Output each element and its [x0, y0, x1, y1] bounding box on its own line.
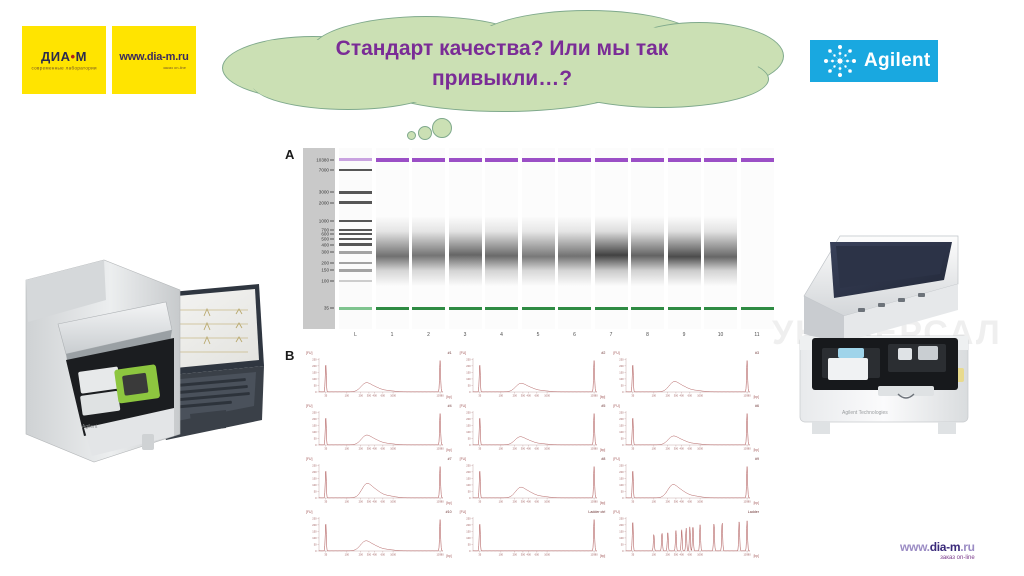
- gel-lane-label: 11: [741, 332, 774, 338]
- thought-bubble-large: [432, 118, 452, 138]
- svg-text:300: 300: [674, 553, 679, 557]
- gel-band: [339, 220, 372, 223]
- gel-smear: [376, 216, 409, 286]
- gel-tick-label: 300: [321, 250, 329, 255]
- svg-text:0: 0: [622, 443, 624, 447]
- electropherogram-x-unit: [bp]: [600, 448, 605, 452]
- gel-lane: [485, 148, 518, 329]
- svg-text:100: 100: [466, 483, 471, 487]
- svg-text:400: 400: [373, 500, 378, 504]
- svg-text:50: 50: [314, 542, 317, 546]
- svg-text:1000: 1000: [390, 553, 396, 557]
- svg-text:400: 400: [526, 394, 531, 398]
- electropherogram-x-unit: [bp]: [446, 395, 451, 399]
- svg-text:0: 0: [622, 549, 624, 553]
- electropherogram-x-unit: [bp]: [600, 501, 605, 505]
- svg-text:600: 600: [688, 394, 693, 398]
- electropherogram-grid: #1[FU][bp]050100150200250351002003004006…: [305, 352, 760, 562]
- svg-text:400: 400: [526, 447, 531, 451]
- svg-text:10380: 10380: [436, 447, 444, 451]
- svg-text:200: 200: [359, 447, 364, 451]
- svg-text:35: 35: [632, 447, 635, 451]
- svg-text:100: 100: [498, 394, 503, 398]
- svg-text:250: 250: [466, 410, 471, 414]
- gel-lower-marker: [449, 307, 482, 310]
- svg-text:100: 100: [652, 553, 657, 557]
- electropherogram-canvas: 0501001502002503510020030040060010001038…: [612, 408, 754, 454]
- gel-lane-label: 5: [522, 332, 555, 338]
- slide-title: Стандарт качества? Или мы так привыкли…?: [262, 34, 742, 95]
- agilent-logo: Agilent: [810, 40, 938, 82]
- gel-lane-label: 2: [412, 332, 445, 338]
- svg-text:200: 200: [466, 417, 471, 421]
- agilent-starburst-icon: [816, 41, 864, 81]
- svg-text:0: 0: [315, 443, 317, 447]
- svg-text:100: 100: [345, 447, 350, 451]
- gel-smear: [631, 216, 664, 286]
- svg-text:50: 50: [467, 436, 470, 440]
- gel-upper-marker: [595, 158, 628, 161]
- svg-text:150: 150: [312, 423, 317, 427]
- gel-band: [339, 269, 372, 272]
- electropherogram-trace: [626, 414, 750, 445]
- gel-tick-label: 3000: [319, 190, 329, 195]
- gel-lower-marker: [595, 307, 628, 310]
- dia-m-site-logo: www.dia-m.ru заказ on-line: [112, 26, 196, 94]
- gel-tick-dash: [330, 202, 334, 203]
- svg-text:100: 100: [466, 430, 471, 434]
- svg-text:150: 150: [466, 423, 471, 427]
- gel-upper-marker: [485, 158, 518, 161]
- electropherogram-plot: #1[FU][bp]050100150200250351002003004006…: [305, 352, 453, 403]
- svg-text:600: 600: [381, 553, 386, 557]
- svg-text:35: 35: [324, 447, 327, 451]
- svg-text:100: 100: [620, 536, 625, 540]
- svg-text:300: 300: [674, 394, 679, 398]
- electropherogram-x-unit: [bp]: [754, 554, 759, 558]
- svg-text:0: 0: [469, 496, 471, 500]
- electropherogram-plot: #10[FU][bp]05010015020025035100200300400…: [305, 511, 453, 562]
- svg-text:200: 200: [359, 394, 364, 398]
- svg-text:1000: 1000: [544, 394, 550, 398]
- svg-text:35: 35: [478, 553, 481, 557]
- svg-text:100: 100: [312, 430, 317, 434]
- gel-upper-marker: [339, 158, 372, 161]
- gel-lane-label: L: [339, 332, 372, 338]
- svg-text:200: 200: [312, 523, 317, 527]
- electropherogram-trace: [626, 361, 750, 392]
- svg-text:150: 150: [620, 370, 625, 374]
- svg-text:200: 200: [620, 470, 625, 474]
- electropherogram-canvas: 0501001502002503510020030040060010001038…: [305, 461, 447, 507]
- electropherogram-title: #2: [601, 351, 605, 355]
- svg-text:250: 250: [466, 516, 471, 520]
- electropherogram-title: #1: [448, 351, 452, 355]
- svg-text:600: 600: [534, 394, 539, 398]
- svg-text:35: 35: [324, 500, 327, 504]
- footer-tagline: заказ on-line: [900, 555, 975, 561]
- electropherogram-trace: [319, 414, 443, 445]
- electropherogram-x-unit: [bp]: [446, 501, 451, 505]
- svg-text:200: 200: [312, 364, 317, 368]
- svg-text:300: 300: [367, 553, 372, 557]
- svg-text:100: 100: [498, 447, 503, 451]
- svg-text:150: 150: [620, 529, 625, 533]
- thought-bubble-medium: [418, 126, 432, 140]
- gel-image-panel-a: 1038070003000200010007006005004003002001…: [303, 148, 756, 344]
- svg-text:35: 35: [478, 394, 481, 398]
- electropherogram-trace: [473, 414, 597, 445]
- svg-text:50: 50: [314, 489, 317, 493]
- gel-tick-label: 1000: [319, 218, 329, 223]
- svg-text:10380: 10380: [744, 500, 752, 504]
- electropherogram-canvas: 0501001502002503510020030040060010001038…: [305, 355, 447, 401]
- svg-text:150: 150: [312, 370, 317, 374]
- svg-text:10380: 10380: [744, 447, 752, 451]
- gel-band: [339, 191, 372, 194]
- svg-text:400: 400: [526, 553, 531, 557]
- svg-text:300: 300: [367, 500, 372, 504]
- site-url-text: www.dia-m.ru: [119, 51, 188, 63]
- svg-text:400: 400: [680, 394, 685, 398]
- electropherogram-title: #4: [448, 404, 452, 408]
- electropherogram-trace: [473, 467, 597, 498]
- gel-smear: [522, 216, 555, 286]
- svg-text:200: 200: [620, 417, 625, 421]
- svg-text:300: 300: [674, 447, 679, 451]
- svg-text:600: 600: [534, 553, 539, 557]
- svg-text:35: 35: [324, 394, 327, 398]
- svg-text:10380: 10380: [436, 553, 444, 557]
- svg-text:200: 200: [312, 417, 317, 421]
- gel-tick-dash: [330, 159, 334, 160]
- gel-tick-label: 10380: [316, 157, 329, 162]
- gel-lower-marker: [522, 307, 555, 310]
- gel-upper-marker: [668, 158, 701, 161]
- svg-text:35: 35: [478, 500, 481, 504]
- svg-text:35: 35: [478, 447, 481, 451]
- panel-b-letter: B: [285, 348, 294, 363]
- electropherogram-title: #6: [755, 404, 759, 408]
- gel-tick-dash: [330, 244, 334, 245]
- svg-text:Agilent Technologies: Agilent Technologies: [842, 410, 888, 416]
- svg-text:1000: 1000: [544, 500, 550, 504]
- svg-text:50: 50: [621, 489, 624, 493]
- svg-text:300: 300: [520, 447, 525, 451]
- gel-lower-marker: [668, 307, 701, 310]
- gel-upper-marker: [412, 158, 445, 161]
- svg-text:250: 250: [312, 357, 317, 361]
- electropherogram-title: #9: [755, 457, 759, 461]
- svg-text:200: 200: [512, 394, 517, 398]
- svg-text:10380: 10380: [436, 500, 444, 504]
- svg-text:50: 50: [467, 489, 470, 493]
- svg-text:1000: 1000: [390, 500, 396, 504]
- svg-text:200: 200: [312, 470, 317, 474]
- gel-upper-marker: [631, 158, 664, 161]
- svg-text:600: 600: [381, 500, 386, 504]
- svg-text:1000: 1000: [390, 447, 396, 451]
- electropherogram-x-unit: [bp]: [754, 395, 759, 399]
- diam-wordmark: ДИА•М: [41, 50, 87, 63]
- gel-lower-marker: [631, 307, 664, 310]
- svg-text:250: 250: [620, 463, 625, 467]
- electropherogram-title: #3: [755, 351, 759, 355]
- electropherogram-canvas: 0501001502002503510020030040060010001038…: [459, 408, 601, 454]
- svg-text:200: 200: [620, 364, 625, 368]
- electropherogram-plot: #8[FU][bp]050100150200250351002003004006…: [459, 458, 607, 509]
- svg-text:250: 250: [620, 516, 625, 520]
- svg-text:1000: 1000: [544, 447, 550, 451]
- gel-upper-marker: [741, 158, 774, 161]
- svg-text:0: 0: [469, 443, 471, 447]
- svg-text:250: 250: [312, 516, 317, 520]
- gel-smear: [595, 216, 628, 286]
- svg-text:250: 250: [620, 410, 625, 414]
- site-tagline: заказ on-line: [163, 65, 186, 70]
- gel-lane: [595, 148, 628, 329]
- gel-lane: [558, 148, 591, 329]
- gel-upper-marker: [376, 158, 409, 161]
- gel-smear: [412, 216, 445, 286]
- gel-tick-label: 100: [321, 278, 329, 283]
- gel-lower-marker: [376, 307, 409, 310]
- svg-text:10380: 10380: [590, 447, 598, 451]
- svg-text:35: 35: [632, 500, 635, 504]
- electropherogram-plot: #2[FU][bp]050100150200250351002003004006…: [459, 352, 607, 403]
- gel-lane-label: 1: [376, 332, 409, 338]
- svg-text:250: 250: [466, 357, 471, 361]
- gel-lane-label: 3: [449, 332, 482, 338]
- svg-text:1000: 1000: [390, 394, 396, 398]
- svg-text:600: 600: [688, 553, 693, 557]
- electropherogram-plot: #7[FU][bp]050100150200250351002003004006…: [305, 458, 453, 509]
- svg-text:600: 600: [534, 447, 539, 451]
- agilent-wordmark: Agilent: [864, 50, 931, 72]
- svg-text:100: 100: [652, 394, 657, 398]
- svg-text:600: 600: [381, 447, 386, 451]
- electropherogram-x-unit: [bp]: [754, 501, 759, 505]
- gel-lower-marker: [558, 307, 591, 310]
- svg-text:100: 100: [345, 553, 350, 557]
- title-line-1: Стандарт качества? Или мы так: [262, 34, 742, 64]
- svg-text:100: 100: [620, 483, 625, 487]
- bioanalyzer-instrument-image: Agilent: [14, 238, 264, 470]
- svg-text:0: 0: [315, 496, 317, 500]
- svg-text:400: 400: [526, 500, 531, 504]
- electropherogram-trace: [626, 521, 750, 551]
- gel-upper-marker: [522, 158, 555, 161]
- svg-text:200: 200: [666, 394, 671, 398]
- svg-text:250: 250: [466, 463, 471, 467]
- svg-text:0: 0: [622, 496, 624, 500]
- svg-text:100: 100: [345, 394, 350, 398]
- svg-text:50: 50: [621, 383, 624, 387]
- gel-tick-label: 500: [321, 236, 329, 241]
- svg-text:10380: 10380: [590, 500, 598, 504]
- svg-text:50: 50: [467, 383, 470, 387]
- svg-text:400: 400: [680, 500, 685, 504]
- svg-text:150: 150: [466, 370, 471, 374]
- electropherogram-plot: #6[FU][bp]050100150200250351002003004006…: [612, 405, 760, 456]
- diam-logo: ДИА•М современные лаборатории: [22, 26, 106, 94]
- svg-text:50: 50: [621, 542, 624, 546]
- svg-text:250: 250: [312, 463, 317, 467]
- gel-tick-label: 400: [321, 242, 329, 247]
- svg-text:150: 150: [620, 423, 625, 427]
- svg-text:400: 400: [680, 553, 685, 557]
- gel-lane-label: 7: [595, 332, 628, 338]
- electropherogram-x-unit: [bp]: [446, 448, 451, 452]
- svg-text:35: 35: [632, 553, 635, 557]
- svg-text:150: 150: [312, 476, 317, 480]
- gel-lane: [704, 148, 737, 329]
- footer-url: www.dia-m.ru: [900, 540, 975, 554]
- electropherogram-trace: [319, 361, 443, 392]
- gel-upper-marker: [704, 158, 737, 161]
- gel-lane: [412, 148, 445, 329]
- electropherogram-canvas: 0501001502002503510020030040060010001038…: [612, 461, 754, 507]
- gel-tick-label: 2000: [319, 200, 329, 205]
- gel-tick-dash: [330, 220, 334, 221]
- gel-lower-marker: [485, 307, 518, 310]
- gel-band: [339, 238, 372, 241]
- svg-text:400: 400: [680, 447, 685, 451]
- gel-band: [339, 262, 372, 265]
- gel-tick-dash: [330, 262, 334, 263]
- svg-text:1000: 1000: [698, 500, 704, 504]
- svg-text:100: 100: [620, 377, 625, 381]
- gel-tick-dash: [330, 230, 334, 231]
- gel-band: [339, 243, 372, 246]
- thought-bubble-small: [407, 131, 416, 140]
- gel-band: [339, 233, 372, 236]
- gel-lane-label: 9: [668, 332, 701, 338]
- gel-lane-label: 6: [558, 332, 591, 338]
- gel-lane: [668, 148, 701, 329]
- svg-text:100: 100: [312, 536, 317, 540]
- svg-text:50: 50: [467, 542, 470, 546]
- gel-smear: [668, 216, 701, 286]
- gel-lane: [449, 148, 482, 329]
- panel-a-letter: A: [285, 147, 294, 162]
- svg-text:400: 400: [373, 394, 378, 398]
- svg-text:1000: 1000: [698, 394, 704, 398]
- electropherogram-plot: #3[FU][bp]050100150200250351002003004006…: [612, 352, 760, 403]
- title-line-2: привыкли…?: [262, 64, 742, 94]
- svg-text:250: 250: [312, 410, 317, 414]
- electropherogram-plot: Ladder ctrl[FU][bp]050100150200250351002…: [459, 511, 607, 562]
- tapestation-instrument-image: УНИВЕРСАЛ Agilent Technologies: [782, 218, 996, 450]
- electropherogram-title: #7: [448, 457, 452, 461]
- svg-text:0: 0: [469, 390, 471, 394]
- svg-text:100: 100: [652, 447, 657, 451]
- svg-text:100: 100: [466, 536, 471, 540]
- gel-tick-dash: [330, 192, 334, 193]
- gel-lane: [376, 148, 409, 329]
- gel-lane: [741, 148, 774, 329]
- electropherogram-canvas: 0501001502002503510020030040060010001038…: [612, 514, 754, 560]
- electropherogram-x-unit: [bp]: [446, 554, 451, 558]
- svg-text:200: 200: [620, 523, 625, 527]
- svg-text:200: 200: [466, 470, 471, 474]
- svg-text:200: 200: [512, 447, 517, 451]
- electropherogram-trace: [319, 520, 443, 551]
- svg-text:50: 50: [314, 383, 317, 387]
- svg-text:300: 300: [367, 447, 372, 451]
- gel-lower-marker: [339, 307, 372, 310]
- svg-text:Agilent: Agilent: [82, 424, 98, 430]
- electropherogram-x-unit: [bp]: [600, 395, 605, 399]
- gel-tick-dash: [330, 280, 334, 281]
- svg-text:100: 100: [466, 377, 471, 381]
- gel-band: [339, 201, 372, 204]
- svg-text:0: 0: [622, 390, 624, 394]
- svg-text:200: 200: [466, 364, 471, 368]
- svg-text:100: 100: [652, 500, 657, 504]
- electropherogram-x-unit: [bp]: [754, 448, 759, 452]
- electropherogram-canvas: 0501001502002503510020030040060010001038…: [459, 514, 601, 560]
- electropherogram-trace: [473, 361, 597, 392]
- svg-text:1000: 1000: [698, 447, 704, 451]
- gel-tick-dash: [330, 170, 334, 171]
- electropherogram-trace: [319, 467, 443, 498]
- gel-band: [339, 229, 372, 232]
- electropherogram-x-unit: [bp]: [600, 554, 605, 558]
- svg-text:10380: 10380: [590, 553, 598, 557]
- gel-tick-dash: [330, 308, 334, 309]
- svg-text:300: 300: [367, 394, 372, 398]
- gel-upper-marker: [449, 158, 482, 161]
- svg-text:100: 100: [620, 430, 625, 434]
- svg-text:50: 50: [621, 436, 624, 440]
- gel-tick-dash: [330, 238, 334, 239]
- svg-text:600: 600: [688, 500, 693, 504]
- svg-text:200: 200: [466, 523, 471, 527]
- diam-tagline: современные лаборатории: [31, 66, 96, 71]
- svg-text:400: 400: [373, 553, 378, 557]
- svg-text:600: 600: [381, 394, 386, 398]
- gel-smear: [704, 216, 737, 286]
- gel-lane-label: 10: [704, 332, 737, 338]
- svg-text:35: 35: [324, 553, 327, 557]
- svg-text:250: 250: [620, 357, 625, 361]
- svg-text:35: 35: [632, 394, 635, 398]
- svg-text:200: 200: [666, 447, 671, 451]
- svg-text:10380: 10380: [744, 394, 752, 398]
- svg-text:600: 600: [534, 500, 539, 504]
- electropherogram-plot: Ladder[FU][bp]05010015020025035100200300…: [612, 511, 760, 562]
- electropherogram-canvas: 0501001502002503510020030040060010001038…: [459, 355, 601, 401]
- gel-upper-marker: [558, 158, 591, 161]
- gel-tick-label: 35: [324, 306, 329, 311]
- electropherogram-canvas: 0501001502002503510020030040060010001038…: [305, 408, 447, 454]
- svg-text:100: 100: [498, 500, 503, 504]
- electropherogram-title: #5: [601, 404, 605, 408]
- svg-text:200: 200: [359, 500, 364, 504]
- gel-lane-label: 8: [631, 332, 664, 338]
- gel-band: [339, 169, 372, 172]
- svg-text:600: 600: [688, 447, 693, 451]
- gel-band: [339, 251, 372, 254]
- electropherogram-plot: #9[FU][bp]050100150200250351002003004006…: [612, 458, 760, 509]
- footer-dia-m-logo: www.dia-m.ru заказ on-line: [900, 540, 975, 561]
- svg-text:300: 300: [674, 500, 679, 504]
- svg-text:150: 150: [620, 476, 625, 480]
- gel-tick-dash: [330, 234, 334, 235]
- gel-lane-label: 4: [485, 332, 518, 338]
- svg-text:200: 200: [512, 500, 517, 504]
